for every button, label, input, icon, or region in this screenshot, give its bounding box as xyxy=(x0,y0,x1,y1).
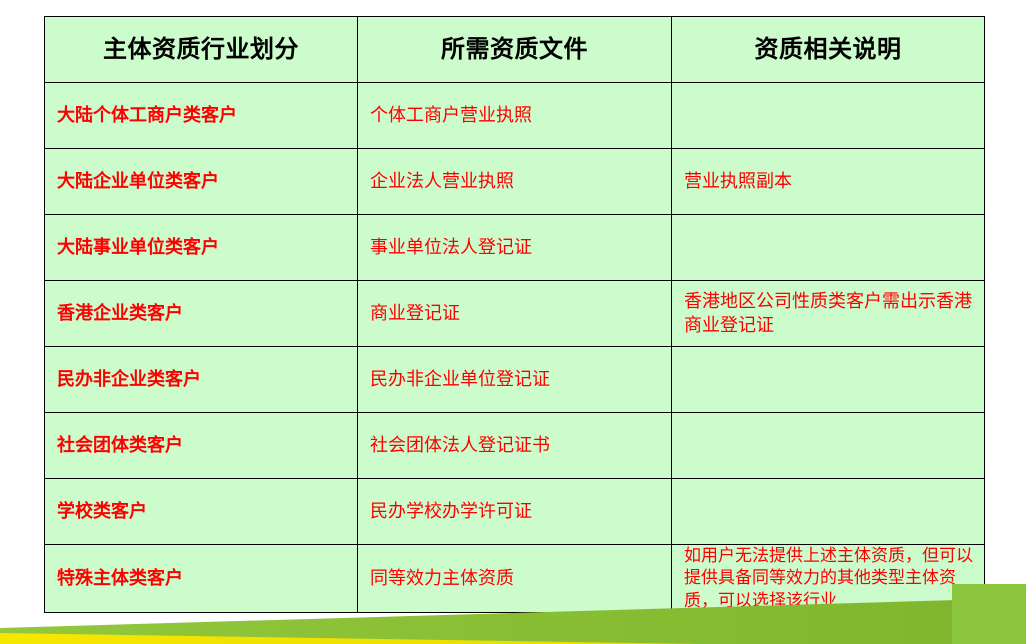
cell-document: 民办非企业单位登记证 xyxy=(358,347,672,413)
cell-category: 民办非企业类客户 xyxy=(45,347,358,413)
cell-category: 香港企业类客户 xyxy=(45,281,358,347)
cell-document-text: 同等效力主体资质 xyxy=(370,567,661,590)
qualification-table: 主体资质行业划分 所需资质文件 资质相关说明 大陆个体工商户类客户 个体工商户营… xyxy=(44,16,985,613)
cell-category: 大陆企业单位类客户 xyxy=(45,149,358,215)
cell-category: 大陆个体工商户类客户 xyxy=(45,83,358,149)
cell-note-text: 如用户无法提供上述主体资质，但可以提供具备同等效力的其他类型主体资质，可以选择该… xyxy=(684,545,974,612)
cell-note: 营业执照副本 xyxy=(672,149,985,215)
cell-document-text: 民办非企业单位登记证 xyxy=(370,368,661,391)
cell-note xyxy=(672,479,985,545)
cell-category: 大陆事业单位类客户 xyxy=(45,215,358,281)
table-row: 大陆个体工商户类客户 个体工商户营业执照 xyxy=(45,83,985,149)
cell-note xyxy=(672,347,985,413)
table-row: 民办非企业类客户 民办非企业单位登记证 xyxy=(45,347,985,413)
cell-note-text xyxy=(684,511,974,512)
cell-document-text: 民办学校办学许可证 xyxy=(370,500,661,523)
cell-note-text xyxy=(684,247,974,248)
cell-document-text: 商业登记证 xyxy=(370,302,661,325)
cell-note: 香港地区公司性质类客户需出示香港商业登记证 xyxy=(672,281,985,347)
cell-document: 个体工商户营业执照 xyxy=(358,83,672,149)
cell-note-text xyxy=(684,115,974,116)
cell-category: 特殊主体类客户 xyxy=(45,545,358,613)
column-header-note: 资质相关说明 xyxy=(672,17,985,83)
table-row: 香港企业类客户 商业登记证 香港地区公司性质类客户需出示香港商业登记证 xyxy=(45,281,985,347)
cell-document: 企业法人营业执照 xyxy=(358,149,672,215)
cell-category-text: 香港企业类客户 xyxy=(57,302,347,325)
column-header-document: 所需资质文件 xyxy=(358,17,672,83)
cell-document: 商业登记证 xyxy=(358,281,672,347)
cell-document-text: 事业单位法人登记证 xyxy=(370,236,661,259)
cell-document: 社会团体法人登记证书 xyxy=(358,413,672,479)
cell-category-text: 大陆事业单位类客户 xyxy=(57,236,347,259)
slide-canvas: 主体资质行业划分 所需资质文件 资质相关说明 大陆个体工商户类客户 个体工商户营… xyxy=(0,0,1026,644)
table-header-row: 主体资质行业划分 所需资质文件 资质相关说明 xyxy=(45,17,985,83)
cell-note-text xyxy=(684,379,974,380)
cell-category-text: 学校类客户 xyxy=(57,500,347,523)
yellow-ribbon-shape xyxy=(0,633,700,644)
cell-category-text: 民办非企业类客户 xyxy=(57,368,347,391)
cell-note xyxy=(672,83,985,149)
cell-category-text: 大陆企业单位类客户 xyxy=(57,170,347,193)
cell-category-text: 特殊主体类客户 xyxy=(57,567,347,590)
cell-document: 同等效力主体资质 xyxy=(358,545,672,613)
cell-note: 如用户无法提供上述主体资质，但可以提供具备同等效力的其他类型主体资质，可以选择该… xyxy=(672,545,985,613)
cell-document: 民办学校办学许可证 xyxy=(358,479,672,545)
cell-category: 社会团体类客户 xyxy=(45,413,358,479)
cell-document-text: 个体工商户营业执照 xyxy=(370,104,661,127)
cell-note xyxy=(672,413,985,479)
cell-note-text: 营业执照副本 xyxy=(684,170,974,193)
cell-note-text: 香港地区公司性质类客户需出示香港商业登记证 xyxy=(684,290,974,336)
table-row: 特殊主体类客户 同等效力主体资质 如用户无法提供上述主体资质，但可以提供具备同等… xyxy=(45,545,985,613)
cell-category-text: 社会团体类客户 xyxy=(57,434,347,457)
qualification-table-container: 主体资质行业划分 所需资质文件 资质相关说明 大陆个体工商户类客户 个体工商户营… xyxy=(44,16,984,613)
cell-category-text: 大陆个体工商户类客户 xyxy=(57,104,347,127)
cell-document: 事业单位法人登记证 xyxy=(358,215,672,281)
cell-document-text: 企业法人营业执照 xyxy=(370,170,661,193)
cell-note xyxy=(672,215,985,281)
table-row: 大陆事业单位类客户 事业单位法人登记证 xyxy=(45,215,985,281)
column-header-category: 主体资质行业划分 xyxy=(45,17,358,83)
cell-document-text: 社会团体法人登记证书 xyxy=(370,434,661,457)
table-row: 大陆企业单位类客户 企业法人营业执照 营业执照副本 xyxy=(45,149,985,215)
table-row: 学校类客户 民办学校办学许可证 xyxy=(45,479,985,545)
table-header: 主体资质行业划分 所需资质文件 资质相关说明 xyxy=(45,17,985,83)
cell-note-text xyxy=(684,445,974,446)
cell-category: 学校类客户 xyxy=(45,479,358,545)
table-body: 大陆个体工商户类客户 个体工商户营业执照 大陆企业单位类客户 企业法人营业执照 … xyxy=(45,83,985,613)
table-row: 社会团体类客户 社会团体法人登记证书 xyxy=(45,413,985,479)
